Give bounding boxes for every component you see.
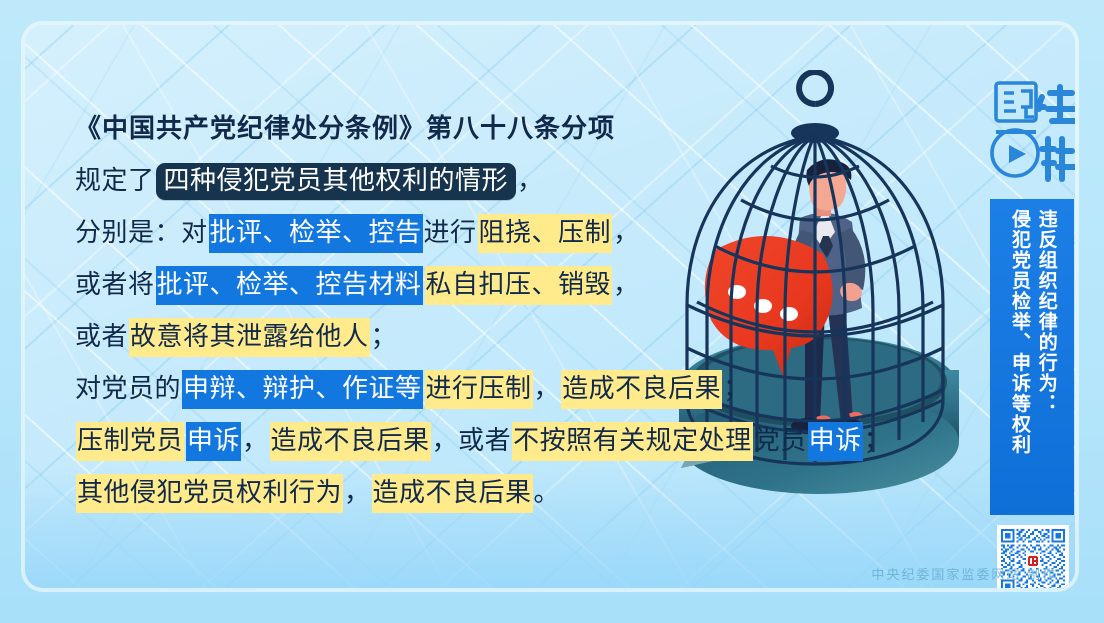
text-segment-blue: 申辩、辩护、作证等 <box>182 370 423 409</box>
text-line-2: 分别是：对批评、检举、控告进行阻挠、压制， <box>75 207 715 259</box>
text-line-1: 规定了四种侵犯党员其他权利的情形， <box>75 155 715 207</box>
text-line-6: 压制党员申诉，造成不良后果，或者不按照有关规定处理党员申诉； <box>75 415 715 467</box>
text-segment-yellow: 阻挠、压制 <box>478 214 613 253</box>
text-segment-blue: 批评、检举、控告材料 <box>156 266 423 305</box>
text-segment-plain: 《中国共产党纪律处分条例》第八十八条分项 <box>75 114 615 143</box>
text-segment-plain: ； <box>723 374 750 403</box>
text-line-3: 或者将批评、检举、控告材料私自扣压、销毁， <box>75 259 715 311</box>
text-line-5: 对党员的申辩、辩护、作证等进行压制，造成不良后果； <box>75 363 715 415</box>
text-segment-plain: 或者 <box>75 322 128 351</box>
text-segment-yellow: 其他侵犯党员权利行为 <box>76 474 343 513</box>
text-segment-plain: ，或者 <box>432 426 512 455</box>
text-segment-blue: 申诉 <box>186 422 241 461</box>
content-panel: 《中国共产党纪律处分条例》第八十八条分项规定了四种侵犯党员其他权利的情形，分别是… <box>25 25 1075 588</box>
text-segment-plain: 党员 <box>754 426 807 455</box>
category-banner-line-2: 侵犯党员检举、申诉等权利 <box>1006 209 1031 515</box>
text-segment-plain: ， <box>534 374 561 403</box>
text-segment-plain: 对党员的 <box>75 374 181 403</box>
text-segment-plain: ； <box>371 322 398 351</box>
ji-fa-bai-ke-logo <box>988 77 1075 189</box>
text-segment-yellow: 造成不良后果 <box>561 370 722 409</box>
text-segment-plain: ， <box>613 270 640 299</box>
category-banner: 违反组织纪律的行为： 侵犯党员检举、申诉等权利 <box>990 199 1074 515</box>
text-line-4: 或者故意将其泄露给他人； <box>75 311 715 363</box>
text-segment-plain: 进行 <box>424 218 477 247</box>
text-segment-yellow: 故意将其泄露给他人 <box>129 318 370 357</box>
text-segment-plain: 规定了 <box>75 166 155 195</box>
text-line-7: 其他侵犯党员权利行为，造成不良后果。 <box>75 467 715 519</box>
text-segment-plain: ， <box>242 426 269 455</box>
text-segment-plain: 。 <box>534 478 561 507</box>
logo-svg <box>988 77 1075 189</box>
text-segment-plain: ， <box>517 166 544 195</box>
text-segment-plain: 或者将 <box>75 270 155 299</box>
text-line-0: 《中国共产党纪律处分条例》第八十八条分项 <box>75 103 715 155</box>
text-segment-yellow: 不按照有关规定处理 <box>512 422 753 461</box>
text-segment-plain: 分别是：对 <box>75 218 208 247</box>
text-segment-plain: ， <box>613 218 640 247</box>
text-segment-yellow: 造成不良后果 <box>270 422 431 461</box>
category-banner-line-1: 违反组织纪律的行为： <box>1033 209 1058 515</box>
credit-text: 中央纪委国家监委网站 制作 <box>871 564 1057 583</box>
text-segment-plain: ； <box>864 426 891 455</box>
poster-root: 《中国共产党纪律处分条例》第八十八条分项规定了四种侵犯党员其他权利的情形，分别是… <box>0 0 1104 623</box>
text-segment-blue: 申诉 <box>808 422 863 461</box>
text-segment-dark: 四种侵犯党员其他权利的情形 <box>156 163 517 200</box>
text-segment-plain: ， <box>344 478 371 507</box>
article-text-block: 《中国共产党纪律处分条例》第八十八条分项规定了四种侵犯党员其他权利的情形，分别是… <box>75 103 715 519</box>
right-rail: 违反组织纪律的行为： 侵犯党员检举、申诉等权利 <box>988 73 1075 588</box>
text-segment-yellow: 进行压制 <box>425 370 533 409</box>
text-segment-yellow: 私自扣压、销毁 <box>425 266 613 305</box>
text-segment-yellow: 造成不良后果 <box>372 474 533 513</box>
text-segment-blue: 批评、检举、控告 <box>209 214 423 253</box>
text-segment-yellow: 压制党员 <box>76 422 184 461</box>
